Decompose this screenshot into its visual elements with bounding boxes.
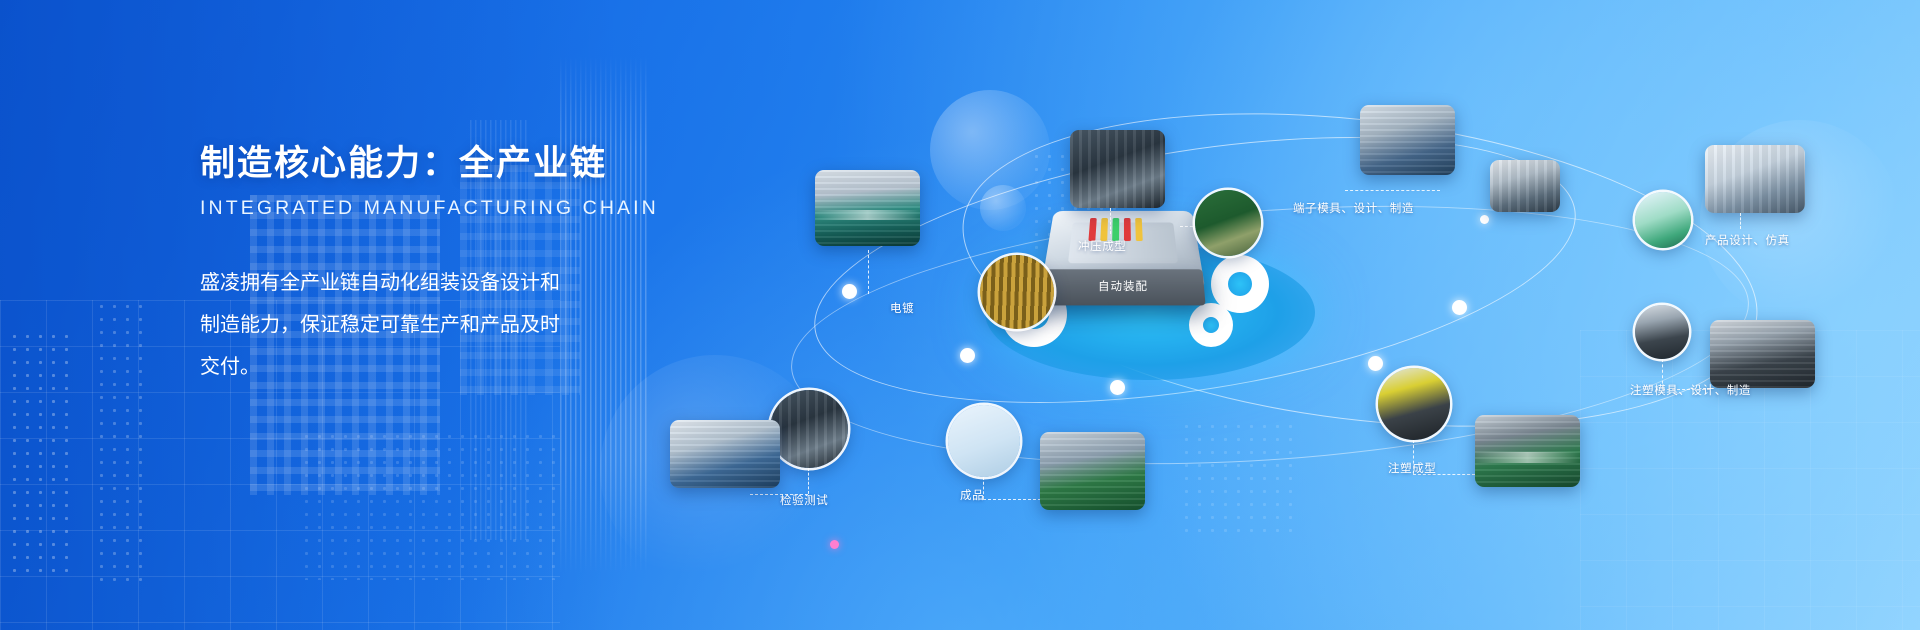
product-design-photo[interactable] <box>1705 145 1805 213</box>
photo-texture <box>1070 130 1165 208</box>
gear-medium-icon <box>1218 262 1262 306</box>
plating-photo[interactable] <box>815 170 920 246</box>
photo-texture <box>1710 320 1815 388</box>
hub-label: 自动装配 <box>1042 278 1204 294</box>
photo-texture <box>1040 432 1145 510</box>
orbit-bead <box>960 348 975 363</box>
orbit-bead <box>842 284 857 299</box>
node-label-plating: 电镀 <box>890 300 914 316</box>
photo-highlight <box>815 210 920 221</box>
page-subtitle: INTEGRATED MANUFACTURING CHAIN <box>200 197 620 220</box>
injection-mold-photo[interactable] <box>1710 320 1815 388</box>
photo-texture <box>1705 145 1805 213</box>
photo-highlight <box>1475 452 1580 462</box>
product-design-circle-photo[interactable] <box>1635 192 1691 248</box>
photo-texture <box>670 420 780 488</box>
injection-photo[interactable] <box>1475 415 1580 487</box>
node-label-injection-mold: 注塑模具、设计、制造 <box>1630 382 1751 398</box>
page-title: 制造核心能力：全产业链 <box>200 143 620 185</box>
plating-connector <box>868 250 869 294</box>
node-label-finished: 成品 <box>960 487 984 503</box>
terminal-mold-connector <box>1345 190 1440 191</box>
gear-small-icon <box>1196 310 1226 340</box>
terminal-mold-photo-2[interactable] <box>1490 160 1560 212</box>
hero-copy: 制造核心能力：全产业链 INTEGRATED MANUFACTURING CHA… <box>200 143 620 388</box>
machine-chip <box>1135 218 1143 241</box>
inspection-connector-v <box>808 468 809 494</box>
finished-circle-photo[interactable] <box>948 405 1020 477</box>
finished-connector-h <box>983 499 1041 500</box>
injection-circle-photo[interactable] <box>1378 368 1450 440</box>
finished-photo[interactable] <box>1040 432 1145 510</box>
plating-circle-photo[interactable] <box>980 255 1054 329</box>
orbit-bead <box>1368 356 1383 371</box>
photo-texture <box>1475 415 1580 487</box>
terminal-mold-photo[interactable] <box>1360 105 1455 175</box>
orbit-bead <box>1452 300 1467 315</box>
node-label-stamping: 冲压成型 <box>1078 238 1126 254</box>
stamping-connector <box>1110 208 1111 234</box>
manufacturing-chain-diagram: 自动装配 电镀 冲压成型 <box>780 0 1920 630</box>
photo-texture <box>815 170 920 246</box>
node-label-product-design: 产品设计、仿真 <box>1705 232 1790 248</box>
stamping-photo[interactable] <box>1070 130 1165 208</box>
hero-banner: 制造核心能力：全产业链 INTEGRATED MANUFACTURING CHA… <box>0 0 1920 630</box>
node-label-terminal-mold: 端子模具、设计、制造 <box>1293 200 1414 216</box>
orbit-bead <box>1110 380 1125 395</box>
node-label-inspection: 检验测试 <box>780 492 828 508</box>
photo-texture <box>1360 105 1455 175</box>
photo-texture <box>770 390 848 468</box>
product-design-connector <box>1740 213 1741 229</box>
node-label-injection: 注塑成型 <box>1388 460 1436 476</box>
dot-pattern-left <box>8 330 68 580</box>
photo-texture <box>1490 160 1560 212</box>
inspection-photo[interactable] <box>670 420 780 488</box>
stamping-circle-photo[interactable] <box>1195 190 1261 256</box>
orbit-bead-small <box>1480 215 1489 224</box>
injection-mold-circle-photo[interactable] <box>1635 305 1689 359</box>
inspection-circle-photo[interactable] <box>770 390 848 468</box>
hero-description: 盛凌拥有全产业链自动化组装设备设计和制造能力，保证稳定可靠生产和产品及时交付。 <box>200 262 560 388</box>
dot-pattern-left-2 <box>95 300 143 590</box>
orbit-bead-pink <box>830 540 839 549</box>
